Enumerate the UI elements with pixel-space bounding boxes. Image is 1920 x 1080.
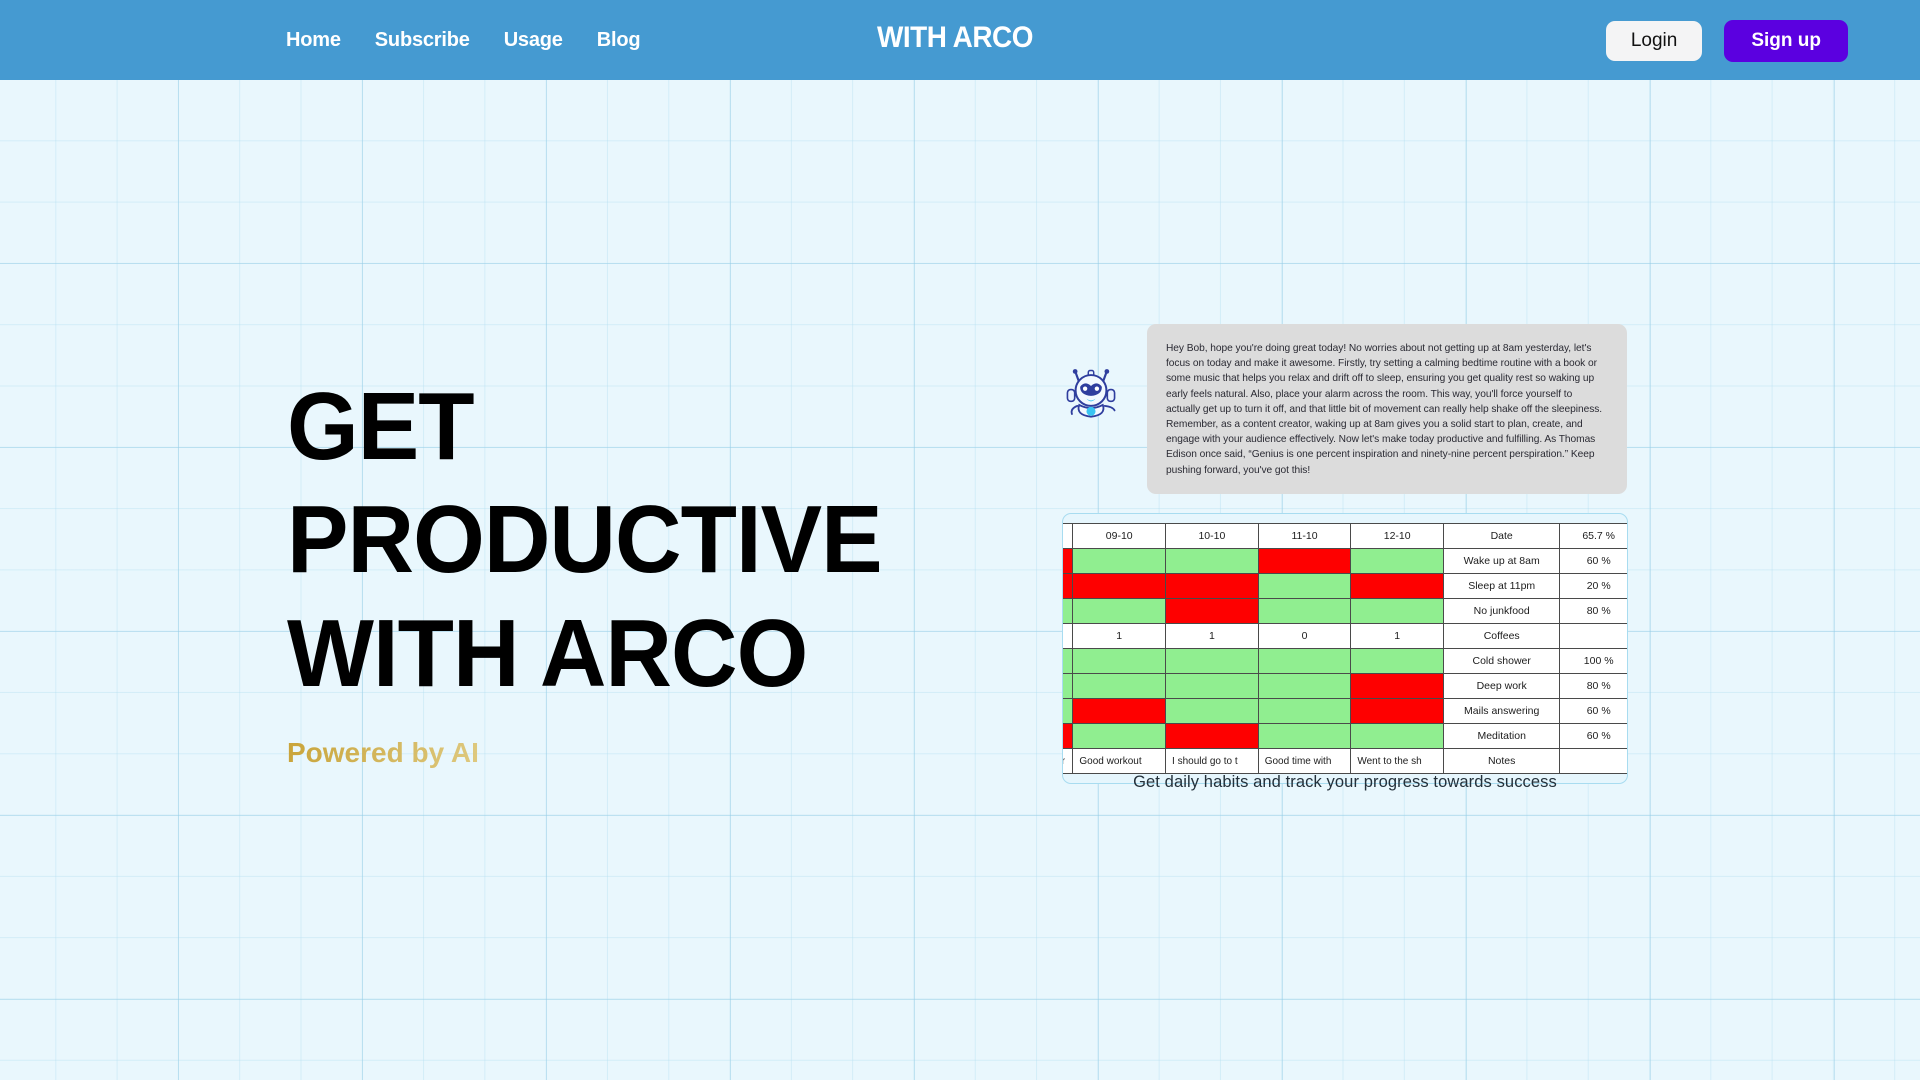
tracker-habit-name[interactable]: Deep work: [1444, 674, 1560, 699]
tracker-percent-cell: 100 %: [1560, 649, 1628, 674]
tracker-habit-name[interactable]: Wake up at 8am: [1444, 549, 1560, 574]
table-row[interactable]: Sleep at 11pm20 %: [1062, 574, 1628, 599]
tracker-status-cell[interactable]: [1166, 699, 1259, 724]
top-navbar: Home Subscribe Usage Blog WITH ARCO Logi…: [0, 0, 1920, 80]
tracker-status-cell[interactable]: [1166, 549, 1259, 574]
tracker-habit-name[interactable]: Meditation: [1444, 724, 1560, 749]
tracker-status-cell[interactable]: [1166, 674, 1259, 699]
hero-heading-line-1: GET: [287, 370, 901, 483]
tracker-percent-cell: 80 %: [1560, 599, 1628, 624]
tracker-status-cell[interactable]: [1258, 699, 1351, 724]
tracker-cut-cell: [1062, 599, 1073, 624]
tracker-status-cell[interactable]: [1073, 724, 1166, 749]
tracker-status-cell[interactable]: [1258, 574, 1351, 599]
hero-heading-line-2: PRODUCTIVE: [287, 483, 901, 596]
chat-row: Hey Bob, hope you're doing great today! …: [1055, 318, 1635, 488]
table-row[interactable]: 1101Coffees: [1062, 624, 1628, 649]
tracker-status-cell[interactable]: [1258, 724, 1351, 749]
tracker-status-cell[interactable]: 1: [1351, 624, 1444, 649]
tracker-percent-cell: 60 %: [1560, 724, 1628, 749]
hero-heading-line-3: WITH ARCO: [287, 597, 901, 710]
tracker-date-header[interactable]: 12-10: [1351, 524, 1444, 549]
showcase-section: Hey Bob, hope you're doing great today! …: [1055, 318, 1635, 488]
hero-subtitle: Powered by AI: [287, 737, 927, 769]
tracker-cut-cell: [1062, 649, 1073, 674]
tracker-status-cell[interactable]: 1: [1073, 624, 1166, 649]
tracker-note-cell[interactable]: Went to the sh: [1351, 749, 1444, 774]
tracker-habit-name[interactable]: Mails answering: [1444, 699, 1560, 724]
tracker-percent-cell: [1560, 749, 1628, 774]
tracker-date-header[interactable]: 11-10: [1258, 524, 1351, 549]
tracker-percent-cell: 65.7 %: [1560, 524, 1628, 549]
tracker-status-cell[interactable]: [1073, 699, 1166, 724]
tracker-percent-cell: 80 %: [1560, 674, 1628, 699]
tracker-status-cell[interactable]: [1166, 599, 1259, 624]
tracker-status-cell[interactable]: [1166, 574, 1259, 599]
tracker-percent-cell: 20 %: [1560, 574, 1628, 599]
tracker-note-cell[interactable]: Good workout: [1073, 749, 1166, 774]
hero-heading: GET PRODUCTIVE WITH ARCO: [287, 370, 901, 710]
tracker-date-header[interactable]: 09-10: [1073, 524, 1166, 549]
tracker-status-cell[interactable]: [1351, 649, 1444, 674]
tracker-percent-cell: [1560, 624, 1628, 649]
table-row[interactable]: 09-1010-1011-1012-10Date65.7 %: [1062, 524, 1628, 549]
tracker-cut-cell: [1062, 524, 1073, 549]
tracker-status-cell[interactable]: [1351, 699, 1444, 724]
tracker-status-cell[interactable]: [1351, 674, 1444, 699]
tracker-status-cell[interactable]: 1: [1166, 624, 1259, 649]
nav-actions: Login Sign up: [1606, 20, 1848, 62]
tracker-habit-name[interactable]: No junkfood: [1444, 599, 1560, 624]
tracker-status-cell[interactable]: [1258, 674, 1351, 699]
tracker-status-cell[interactable]: [1073, 599, 1166, 624]
brand-logo[interactable]: WITH ARCO: [877, 21, 1033, 55]
table-row[interactable]: Wake up at 8am60 %: [1062, 549, 1628, 574]
nav-link-home[interactable]: Home: [286, 29, 341, 52]
tracker-status-cell[interactable]: [1073, 574, 1166, 599]
habit-tracker-card[interactable]: 09-1010-1011-1012-10Date65.7 %Wake up at…: [1062, 513, 1628, 784]
table-row[interactable]: Deep work80 %: [1062, 674, 1628, 699]
tracker-cut-cell: r: [1062, 749, 1073, 774]
tracker-note-cell[interactable]: I should go to t: [1166, 749, 1259, 774]
nav-link-blog[interactable]: Blog: [597, 29, 641, 52]
page-root: Home Subscribe Usage Blog WITH ARCO Logi…: [0, 0, 1920, 1080]
tracker-status-cell[interactable]: [1351, 724, 1444, 749]
table-row[interactable]: Mails answering60 %: [1062, 699, 1628, 724]
chat-bubble: Hey Bob, hope you're doing great today! …: [1147, 324, 1627, 494]
table-row[interactable]: Meditation60 %: [1062, 724, 1628, 749]
tracker-date-header[interactable]: 10-10: [1166, 524, 1259, 549]
tracker-status-cell[interactable]: [1351, 549, 1444, 574]
tracker-status-cell[interactable]: [1258, 649, 1351, 674]
tracker-status-cell[interactable]: [1073, 649, 1166, 674]
tracker-habit-name[interactable]: Date: [1444, 524, 1560, 549]
tracker-habit-name[interactable]: Coffees: [1444, 624, 1560, 649]
tracker-status-cell[interactable]: [1166, 724, 1259, 749]
tracker-cut-cell: [1062, 624, 1073, 649]
nav-link-usage[interactable]: Usage: [504, 29, 563, 52]
tracker-status-cell[interactable]: [1073, 549, 1166, 574]
tracker-cut-cell: [1062, 724, 1073, 749]
tracker-status-cell[interactable]: 0: [1258, 624, 1351, 649]
tracker-note-cell[interactable]: Good time with: [1258, 749, 1351, 774]
nav-link-subscribe[interactable]: Subscribe: [375, 29, 470, 52]
tracker-status-cell[interactable]: [1258, 599, 1351, 624]
signup-button[interactable]: Sign up: [1724, 20, 1848, 62]
tracker-status-cell[interactable]: [1258, 549, 1351, 574]
tracker-cut-cell: [1062, 674, 1073, 699]
tracker-status-cell[interactable]: [1166, 649, 1259, 674]
tracker-cut-cell: [1062, 549, 1073, 574]
tracker-status-cell[interactable]: [1073, 674, 1166, 699]
tracker-cut-cell: [1062, 699, 1073, 724]
table-row[interactable]: No junkfood80 %: [1062, 599, 1628, 624]
tracker-status-cell[interactable]: [1351, 599, 1444, 624]
nav-links: Home Subscribe Usage Blog: [286, 29, 640, 52]
tracker-habit-name[interactable]: Cold shower: [1444, 649, 1560, 674]
tracker-habit-name[interactable]: Notes: [1444, 749, 1560, 774]
table-row[interactable]: rGood workout I should go to tGood time …: [1062, 749, 1628, 774]
chat-message-text: Hey Bob, hope you're doing great today! …: [1166, 341, 1608, 478]
habit-tracker-body: 09-1010-1011-1012-10Date65.7 %Wake up at…: [1062, 524, 1628, 774]
tracker-status-cell[interactable]: [1351, 574, 1444, 599]
hero-section: GET PRODUCTIVE WITH ARCO Powered by AI: [287, 370, 927, 769]
tracker-caption: Get daily habits and track your progress…: [1055, 773, 1635, 792]
habit-tracker-table[interactable]: 09-1010-1011-1012-10Date65.7 %Wake up at…: [1062, 523, 1628, 774]
tracker-cut-cell: [1062, 574, 1073, 599]
robot-mascot-icon: [1062, 366, 1120, 424]
login-button[interactable]: Login: [1606, 21, 1703, 61]
tracker-percent-cell: 60 %: [1560, 699, 1628, 724]
tracker-percent-cell: 60 %: [1560, 549, 1628, 574]
table-row[interactable]: Cold shower100 %: [1062, 649, 1628, 674]
tracker-habit-name[interactable]: Sleep at 11pm: [1444, 574, 1560, 599]
